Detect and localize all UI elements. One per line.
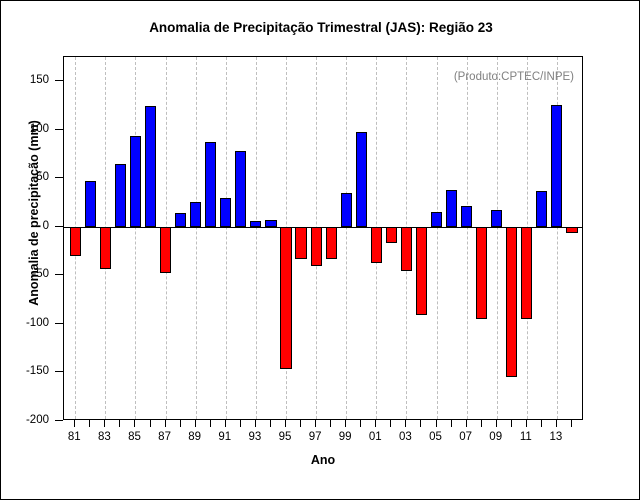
x-axis-tick <box>165 420 166 427</box>
bar <box>295 227 306 259</box>
bar <box>85 181 96 227</box>
x-axis-tick <box>104 420 105 427</box>
source-annotation: (Produto:CPTEC/INPE) <box>454 71 574 83</box>
x-axis-tick-label: 07 <box>459 431 472 443</box>
x-axis-tick <box>89 420 90 427</box>
y-axis-tick-label: 150 <box>30 74 49 86</box>
chart-title: Anomalia de Precipitação Trimestral (JAS… <box>1 20 640 35</box>
y-axis-tick <box>55 177 63 178</box>
x-axis-tick <box>270 420 271 427</box>
x-axis-tick <box>451 420 452 427</box>
bar <box>551 105 562 227</box>
bar <box>115 164 126 227</box>
bar <box>476 227 487 319</box>
bar <box>416 227 427 315</box>
bar <box>461 206 472 227</box>
x-axis-tick-label: 99 <box>339 431 352 443</box>
bar <box>235 151 246 227</box>
bar <box>145 106 156 227</box>
x-axis-tick <box>526 420 527 427</box>
x-axis-tick <box>541 420 542 427</box>
y-axis-tick-label: 0 <box>43 220 49 232</box>
x-axis-tick <box>285 420 286 427</box>
x-axis-tick-label: 13 <box>550 431 563 443</box>
x-axis-tick <box>360 420 361 427</box>
x-axis-tick <box>195 420 196 427</box>
bar <box>431 212 442 227</box>
bar <box>160 227 171 274</box>
x-axis-tick <box>556 420 557 427</box>
x-axis-tick <box>240 420 241 427</box>
x-axis-tick <box>496 420 497 427</box>
x-axis-tick <box>150 420 151 427</box>
x-axis-title: Ano <box>63 453 583 467</box>
bar <box>446 190 457 227</box>
bar <box>491 210 502 227</box>
bar <box>356 132 367 227</box>
x-axis-tick <box>180 420 181 427</box>
bar <box>536 191 547 227</box>
x-axis-tick <box>134 420 135 427</box>
x-axis-tick <box>375 420 376 427</box>
bar <box>341 193 352 227</box>
bar <box>280 227 291 369</box>
bar <box>386 227 397 244</box>
x-axis-tick <box>225 420 226 427</box>
bar <box>220 198 231 227</box>
y-axis-tick <box>55 274 63 275</box>
x-axis-tick-label: 91 <box>218 431 231 443</box>
bar <box>521 227 532 319</box>
x-axis-tick <box>405 420 406 427</box>
x-axis-tick-label: 01 <box>369 431 382 443</box>
y-axis-tick-label: 100 <box>30 123 49 135</box>
y-axis-tick <box>55 80 63 81</box>
x-axis-tick-label: 11 <box>520 431 532 443</box>
x-axis-tick <box>330 420 331 427</box>
y-axis-tick <box>55 323 63 324</box>
x-axis-tick <box>481 420 482 427</box>
y-axis-tick-label: 50 <box>36 171 49 183</box>
x-axis-tick <box>420 420 421 427</box>
x-axis-tick <box>390 420 391 427</box>
x-axis-tick-label: 93 <box>248 431 261 443</box>
x-axis-tick <box>210 420 211 427</box>
bar <box>130 136 141 227</box>
bar <box>566 227 577 233</box>
y-axis-tick-label: -200 <box>26 414 49 426</box>
y-axis-tick <box>55 129 63 130</box>
x-axis: Ano 8183858789919395979901030507091113 <box>63 420 583 480</box>
x-axis-tick-label: 05 <box>429 431 442 443</box>
bar <box>311 227 322 266</box>
x-axis-tick-label: 03 <box>399 431 412 443</box>
bar <box>326 227 337 259</box>
x-axis-tick-label: 87 <box>158 431 171 443</box>
x-axis-tick-label: 81 <box>68 431 81 443</box>
x-axis-tick <box>345 420 346 427</box>
x-axis-tick <box>511 420 512 427</box>
bar <box>371 227 382 263</box>
x-axis-tick-label: 95 <box>279 431 292 443</box>
bar <box>506 227 517 377</box>
x-axis-tick <box>571 420 572 427</box>
x-axis-tick <box>119 420 120 427</box>
x-axis-tick-label: 85 <box>128 431 141 443</box>
bar <box>100 227 111 269</box>
y-axis-tick <box>55 226 63 227</box>
x-axis-tick <box>255 420 256 427</box>
y-axis-tick <box>55 420 63 421</box>
y-axis-tick-label: -100 <box>26 317 49 329</box>
bar <box>401 227 412 271</box>
bar <box>175 213 186 227</box>
x-axis-tick-label: 83 <box>98 431 111 443</box>
bar <box>205 142 216 226</box>
bar <box>70 227 81 256</box>
x-axis-tick <box>466 420 467 427</box>
x-axis-tick-label: 97 <box>309 431 322 443</box>
x-axis-tick <box>74 420 75 427</box>
bar-series <box>64 57 582 419</box>
x-axis-tick <box>300 420 301 427</box>
bar <box>265 220 276 227</box>
chart-figure: Anomalia de Precipitação Trimestral (JAS… <box>0 0 640 500</box>
bar <box>250 221 261 227</box>
x-axis-tick-label: 09 <box>489 431 502 443</box>
plot-area: (Produto:CPTEC/INPE) <box>63 56 583 420</box>
y-axis: 150100500-50-100-150-200 <box>1 56 63 420</box>
y-axis-tick-label: -150 <box>26 365 49 377</box>
y-axis-tick <box>55 371 63 372</box>
x-axis-tick <box>315 420 316 427</box>
y-axis-tick-label: -50 <box>32 268 49 280</box>
x-axis-tick <box>436 420 437 427</box>
bar <box>190 202 201 227</box>
x-axis-tick-label: 89 <box>188 431 201 443</box>
